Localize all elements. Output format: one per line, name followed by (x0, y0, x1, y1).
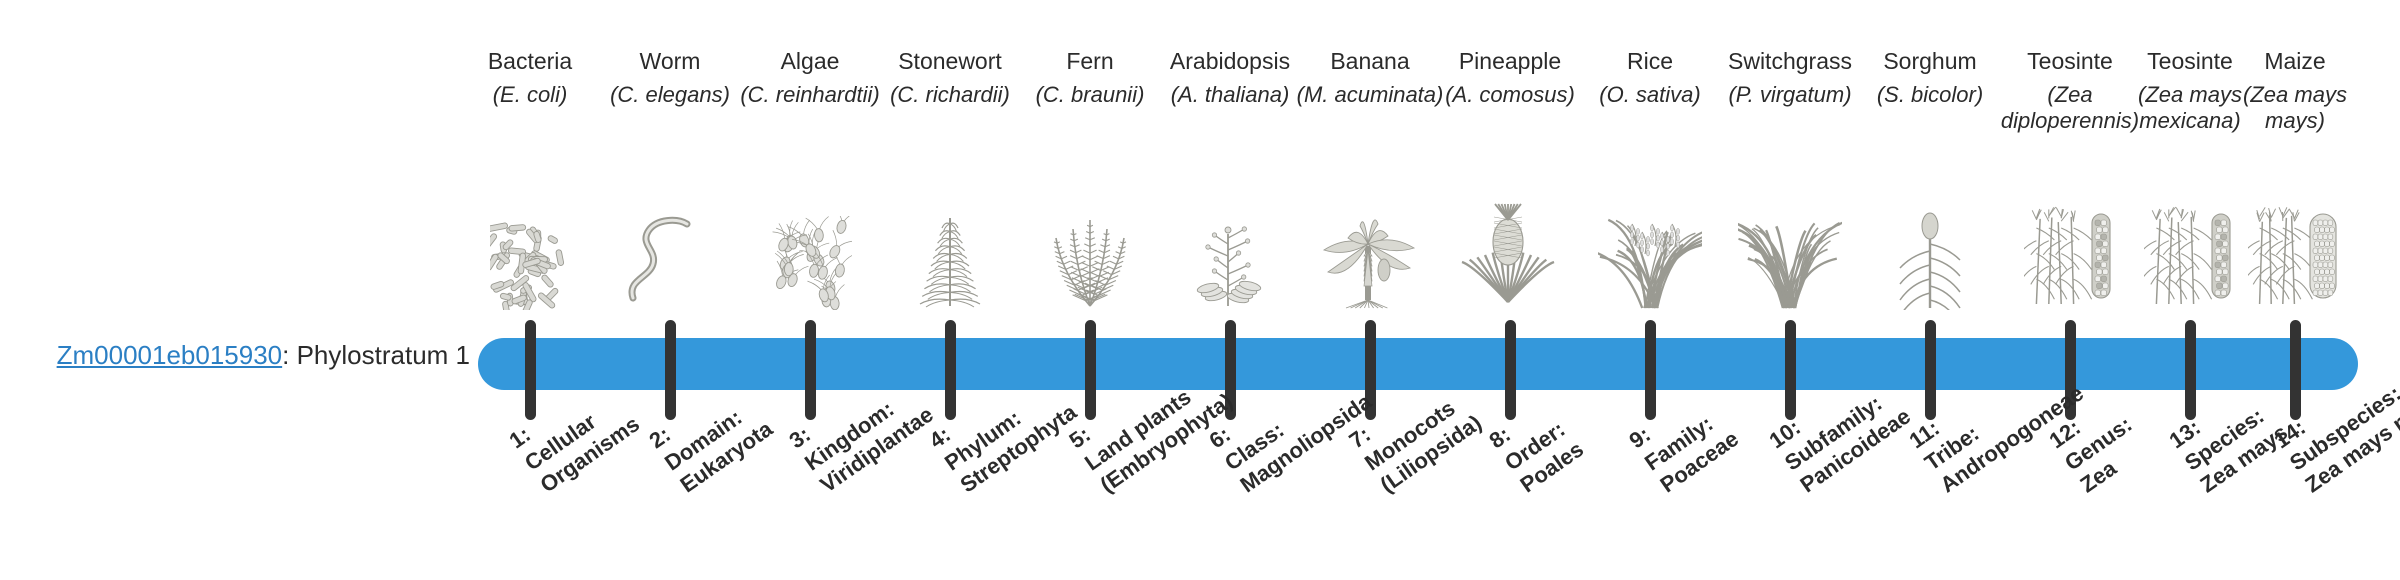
pineapple-plant-icon (1430, 160, 1590, 310)
species-common-name: Banana (1295, 46, 1445, 76)
phylostratigraphy-figure: Zm00001eb015930: Phylostratum 1 Bacteria… (0, 0, 2400, 580)
species-column-3: Algae(C. reinhardtii) (735, 46, 885, 134)
species-column-7: Banana(M. acuminata) (1295, 46, 1445, 134)
species-common-name: Bacteria (455, 46, 605, 76)
species-common-name: Maize (2220, 46, 2370, 76)
species-column-14: Maize(Zea mays mays) (2220, 46, 2370, 134)
arabidopsis-icon (1150, 160, 1310, 310)
species-common-name: Pineapple (1435, 46, 1585, 76)
species-column-6: Arabidopsis(A. thaliana) (1155, 46, 1305, 134)
algae-cells-icon (730, 160, 890, 310)
species-column-1: Bacteria(E. coli) (455, 46, 605, 134)
sorghum-plant-icon (1850, 160, 2010, 310)
species-scientific-name: (A. thaliana) (1155, 82, 1305, 134)
species-common-name: Worm (595, 46, 745, 76)
species-column-9: Rice(O. sativa) (1575, 46, 1725, 134)
gene-phylostratum-text: : Phylostratum 1 (282, 340, 470, 370)
rice-plant-icon (1570, 160, 1730, 310)
species-common-name: Sorghum (1855, 46, 2005, 76)
nematode-worm-icon (590, 160, 750, 310)
species-column-4: Stonewort(C. richardii) (875, 46, 1025, 134)
species-scientific-name: (E. coli) (455, 82, 605, 134)
species-column-10: Switchgrass(P. virgatum) (1715, 46, 1865, 134)
species-common-name: Switchgrass (1715, 46, 1865, 76)
species-column-5: Fern(C. braunii) (1015, 46, 1165, 134)
species-common-name: Arabidopsis (1155, 46, 1305, 76)
species-common-name: Rice (1575, 46, 1725, 76)
species-common-name: Fern (1015, 46, 1165, 76)
tick-mark-1[interactable] (525, 320, 536, 420)
stonewort-icon (870, 160, 1030, 310)
species-scientific-name: (O. sativa) (1575, 82, 1725, 134)
species-common-name: Algae (735, 46, 885, 76)
switchgrass-icon (1710, 160, 1870, 310)
fern-frond-icon (1010, 160, 1170, 310)
species-scientific-name: (C. elegans) (595, 82, 745, 134)
species-common-name: Stonewort (875, 46, 1025, 76)
gene-phylostratum-value: Phylostratum 1 (297, 340, 470, 370)
species-column-8: Pineapple(A. comosus) (1435, 46, 1585, 134)
maize-plant-cob-icon (2215, 160, 2375, 310)
species-scientific-name: (P. virgatum) (1715, 82, 1865, 134)
species-column-11: Sorghum(S. bicolor) (1855, 46, 2005, 134)
species-scientific-name: (Zea mays mays) (2220, 82, 2370, 134)
species-scientific-name: (C. reinhardtii) (735, 82, 885, 134)
bacteria-rods-icon (450, 160, 610, 310)
species-scientific-name: (M. acuminata) (1295, 82, 1445, 134)
gene-label-separator: : (282, 340, 296, 370)
species-column-2: Worm(C. elegans) (595, 46, 745, 134)
gene-phylostratum-label: Zm00001eb015930: Phylostratum 1 (40, 340, 470, 370)
species-scientific-name: (S. bicolor) (1855, 82, 2005, 134)
species-scientific-name: (A. comosus) (1435, 82, 1585, 134)
gene-id-link[interactable]: Zm00001eb015930 (57, 340, 283, 370)
banana-plant-icon (1290, 160, 1450, 310)
species-scientific-name: (C. richardii) (875, 82, 1025, 134)
species-scientific-name: (C. braunii) (1015, 82, 1165, 134)
